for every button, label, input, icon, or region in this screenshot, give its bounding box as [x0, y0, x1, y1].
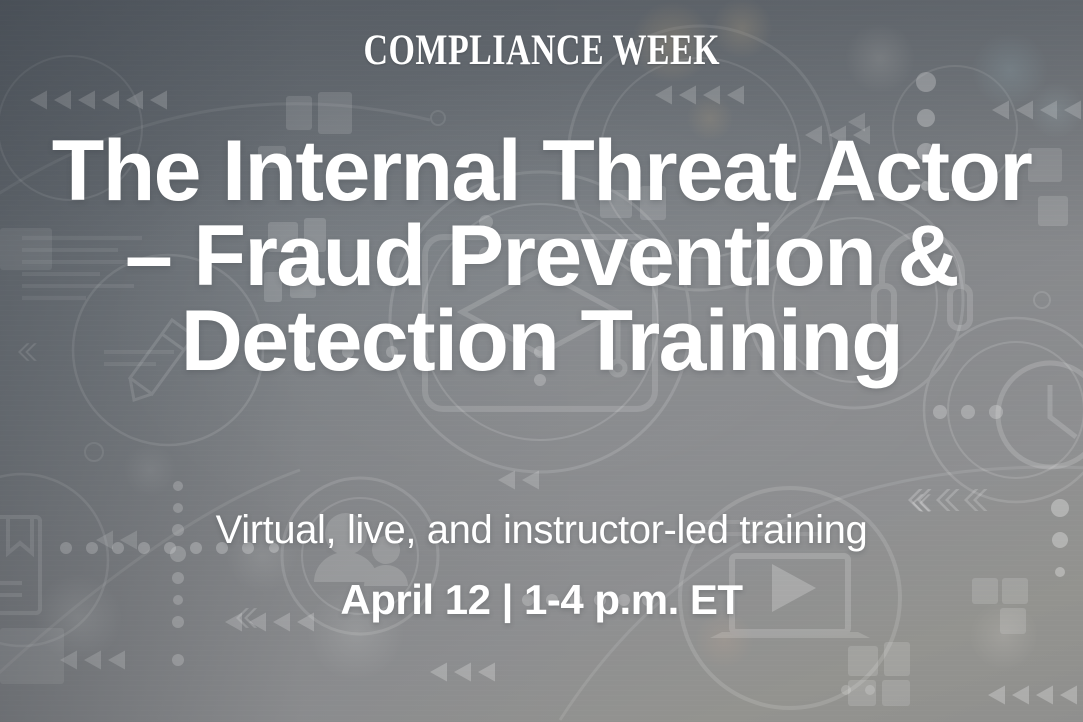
- headline-line-1: The Internal Threat Actor: [12, 129, 1072, 214]
- page-title: The Internal Threat Actor – Fraud Preven…: [12, 129, 1072, 384]
- banner-content: COMPLIANCE WEEK The Internal Threat Acto…: [0, 0, 1083, 722]
- compliance-week-logo: COMPLIANCE WEEK: [363, 28, 720, 71]
- event-datetime: April 12 | 1-4 p.m. ET: [340, 577, 742, 623]
- event-format-subtitle: Virtual, live, and instructor-led traini…: [216, 508, 868, 552]
- headline-line-3: Detection Training: [12, 299, 1072, 384]
- headline-line-2: – Fraud Prevention &: [12, 214, 1072, 299]
- webinar-promo-banner: COMPLIANCE WEEK The Internal Threat Acto…: [0, 0, 1083, 722]
